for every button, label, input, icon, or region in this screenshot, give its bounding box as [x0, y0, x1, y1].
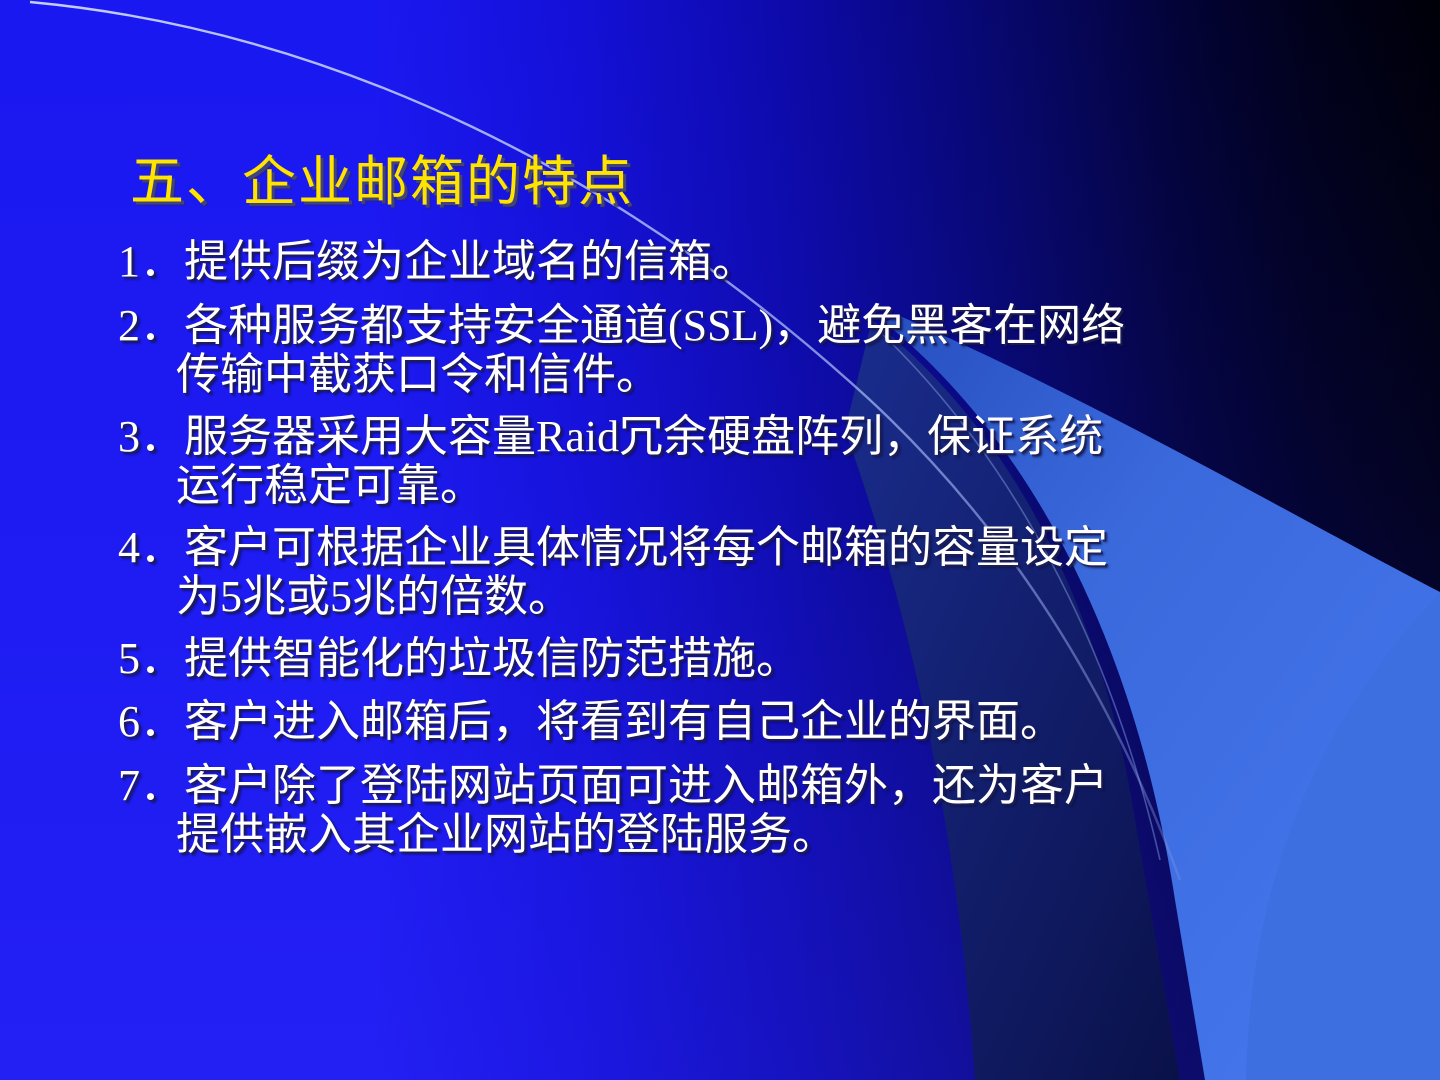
list-item-text: 提供智能化的垃圾信防范措施。 — [184, 634, 800, 683]
list-item-number: 6． — [118, 697, 184, 746]
list-item-text: 客户进入邮箱后，将看到有自己企业的界面。 — [184, 697, 1064, 746]
list-item-number: 7． — [118, 761, 184, 810]
list-item-text-continued: 为5兆或5兆的倍数。 — [118, 573, 1438, 621]
list-item-text: 客户可根据企业具体情况将每个邮箱的容量设定 — [184, 523, 1108, 572]
list-item-number: 5． — [118, 634, 184, 683]
list-item: 7．客户除了登陆网站页面可进入邮箱外，还为客户 提供嵌入其企业网站的登陆服务。 — [118, 762, 1438, 859]
list-item-number: 1． — [118, 237, 184, 286]
list-item-text: 提供后缀为企业域名的信箱。 — [184, 237, 756, 286]
list-item-text-continued: 运行稳定可靠。 — [118, 462, 1438, 510]
slide-content: 五、企业邮箱的特点 1．提供后缀为企业域名的信箱。 2．各种服务都支持安全通道(… — [0, 0, 1440, 1080]
list-item: 2．各种服务都支持安全通道(SSL)，避免黑客在网络 传输中截获口令和信件。 — [118, 302, 1438, 399]
list-item: 4．客户可根据企业具体情况将每个邮箱的容量设定 为5兆或5兆的倍数。 — [118, 524, 1438, 621]
list-item: 5．提供智能化的垃圾信防范措施。 — [118, 635, 1438, 683]
list-item: 1．提供后缀为企业域名的信箱。 — [118, 238, 1438, 286]
list-item-text: 客户除了登陆网站页面可进入邮箱外，还为客户 — [184, 761, 1108, 810]
list-item-text: 服务器采用大容量Raid冗余硬盘阵列，保证系统 — [184, 412, 1103, 461]
list-item: 3．服务器采用大容量Raid冗余硬盘阵列，保证系统 运行稳定可靠。 — [118, 413, 1438, 510]
list-item-text-continued: 提供嵌入其企业网站的登陆服务。 — [118, 811, 1438, 859]
presentation-slide: 五、企业邮箱的特点 1．提供后缀为企业域名的信箱。 2．各种服务都支持安全通道(… — [0, 0, 1440, 1080]
list-item-number: 2． — [118, 301, 184, 350]
page-title: 五、企业邮箱的特点 — [130, 155, 634, 209]
bullet-list: 1．提供后缀为企业域名的信箱。 2．各种服务都支持安全通道(SSL)，避免黑客在… — [118, 238, 1438, 859]
list-item-number: 4． — [118, 523, 184, 572]
list-item: 6．客户进入邮箱后，将看到有自己企业的界面。 — [118, 698, 1438, 746]
list-item-number: 3． — [118, 412, 184, 461]
list-item-text: 各种服务都支持安全通道(SSL)，避免黑客在网络 — [184, 301, 1125, 350]
list-item-text-continued: 传输中截获口令和信件。 — [118, 351, 1438, 399]
